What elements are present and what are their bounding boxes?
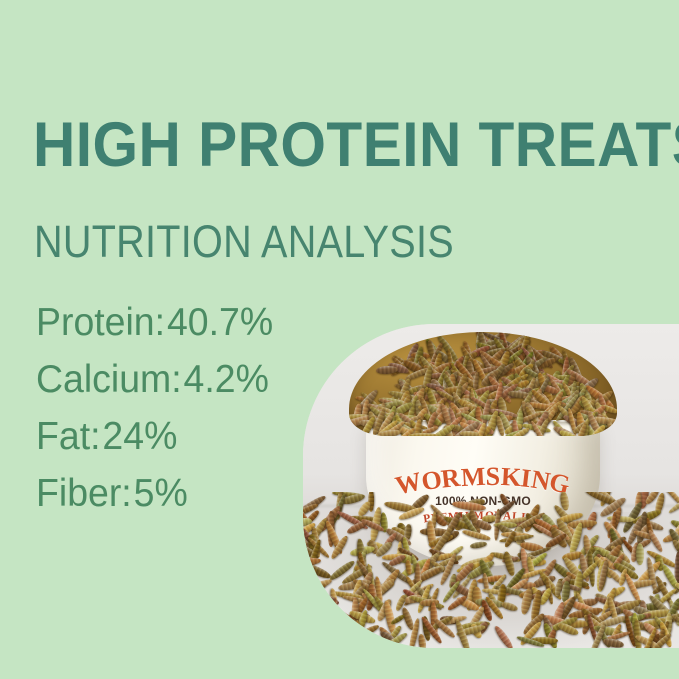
- nutrition-value-fat: 24%: [102, 415, 177, 458]
- nutrition-value-calcium: 4.2%: [184, 358, 269, 401]
- nutrition-label-protein: Protein:: [36, 301, 165, 344]
- larva: [303, 610, 309, 628]
- larva: [493, 624, 515, 648]
- larva: [408, 433, 438, 436]
- nutrition-label-calcium: Calcium:: [36, 358, 182, 401]
- product-infographic-poster: HIGH PROTEIN TREATS NUTRITION ANALYSIS P…: [0, 0, 679, 679]
- nutrition-label-fiber: Fiber:: [36, 472, 132, 515]
- nutrition-value-protein: 40.7%: [167, 301, 273, 344]
- product-photo: WORMSKING 100% NON-GMO PREMIUM QUALITY: [303, 324, 679, 648]
- list-item: Protein:40.7%: [36, 294, 324, 351]
- nutrition-value-fiber: 5%: [134, 472, 188, 515]
- larva: [303, 618, 306, 638]
- larva: [636, 543, 644, 565]
- list-item: Fiber:5%: [36, 465, 324, 522]
- brand-name: WORMSKING: [366, 464, 600, 490]
- nutrition-label-fat: Fat:: [36, 415, 101, 458]
- larva: [500, 600, 519, 612]
- larva: [420, 598, 439, 606]
- larva: [524, 492, 557, 503]
- list-item: Calcium:4.2%: [36, 351, 324, 408]
- larva: [602, 637, 624, 648]
- nutrition-analysis-list: Protein:40.7% Calcium:4.2% Fat:24% Fiber…: [36, 294, 336, 522]
- larva: [469, 540, 486, 549]
- section-subtitle: NUTRITION ANALYSIS: [34, 219, 454, 264]
- larvae-spill: [303, 492, 679, 648]
- larva: [503, 550, 517, 576]
- page-title: HIGH PROTEIN TREATS: [33, 114, 679, 177]
- list-item: Fat:24%: [36, 408, 324, 465]
